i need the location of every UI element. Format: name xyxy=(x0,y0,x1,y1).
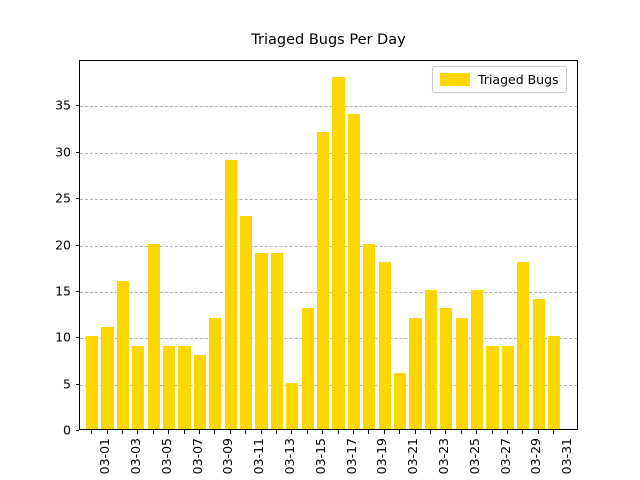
bar xyxy=(117,281,129,429)
x-tick-mark xyxy=(538,430,539,434)
bar xyxy=(209,318,221,429)
x-tick-mark xyxy=(492,430,493,434)
y-tick-label: 30 xyxy=(55,144,71,159)
bar xyxy=(286,383,298,429)
y-tick-mark xyxy=(76,291,80,292)
x-tick-label: 03-09 xyxy=(220,438,235,474)
y-tick-mark xyxy=(76,245,80,246)
x-tick-label: 03-31 xyxy=(559,438,574,474)
x-tick-label: 03-19 xyxy=(374,438,389,474)
x-tick-label: 03-05 xyxy=(159,438,174,474)
bar xyxy=(348,114,360,429)
x-tick-mark xyxy=(107,430,108,434)
y-tick-mark xyxy=(76,105,80,106)
y-tick-mark xyxy=(76,198,80,199)
x-tick-mark xyxy=(338,430,339,434)
bar xyxy=(148,244,160,429)
x-tick-mark xyxy=(415,430,416,434)
bar xyxy=(363,244,375,429)
x-tick-mark xyxy=(276,430,277,434)
x-tick-label: 03-11 xyxy=(251,438,266,474)
bar xyxy=(225,160,237,429)
y-tick-label: 5 xyxy=(63,376,71,391)
bar xyxy=(317,132,329,429)
x-tick-mark xyxy=(353,430,354,434)
y-tick-label: 0 xyxy=(63,423,71,438)
x-tick-mark xyxy=(507,430,508,434)
x-tick-mark xyxy=(184,430,185,434)
x-tick-label: 03-27 xyxy=(498,438,513,474)
x-tick-mark xyxy=(430,430,431,434)
bar xyxy=(409,318,421,429)
bar xyxy=(332,77,344,429)
x-tick-mark xyxy=(199,430,200,434)
x-tick-mark xyxy=(384,430,385,434)
x-tick-mark xyxy=(522,430,523,434)
bar xyxy=(132,346,144,429)
legend-swatch-triaged-bugs xyxy=(440,73,470,86)
y-tick-label: 25 xyxy=(55,191,71,206)
bar xyxy=(394,373,406,429)
bar xyxy=(517,262,529,429)
x-tick-mark xyxy=(399,430,400,434)
x-tick-mark xyxy=(291,430,292,434)
y-tick-mark xyxy=(76,384,80,385)
x-tick-mark xyxy=(214,430,215,434)
bar xyxy=(425,290,437,429)
x-tick-mark xyxy=(230,430,231,434)
bar xyxy=(548,336,560,429)
y-tick-label: 10 xyxy=(55,330,71,345)
x-tick-label: 03-21 xyxy=(405,438,420,474)
x-tick-mark xyxy=(245,430,246,434)
bar xyxy=(379,262,391,429)
x-tick-mark xyxy=(307,430,308,434)
x-tick-label: 03-01 xyxy=(97,438,112,474)
x-tick-mark xyxy=(553,430,554,434)
x-tick-mark xyxy=(476,430,477,434)
bar xyxy=(271,253,283,429)
x-tick-label: 03-13 xyxy=(282,438,297,474)
x-tick-label: 03-17 xyxy=(344,438,359,474)
y-tick-label: 35 xyxy=(55,98,71,113)
y-tick-mark xyxy=(76,152,80,153)
legend-label-triaged-bugs: Triaged Bugs xyxy=(478,72,559,87)
y-tick-mark xyxy=(76,430,80,431)
y-tick-label: 20 xyxy=(55,237,71,252)
chart-legend: Triaged Bugs xyxy=(432,66,567,93)
x-tick-mark xyxy=(445,430,446,434)
bar xyxy=(255,253,267,429)
bar xyxy=(440,308,452,429)
x-tick-label: 03-07 xyxy=(190,438,205,474)
plot-area xyxy=(79,60,578,430)
x-tick-mark xyxy=(122,430,123,434)
y-tick-label: 15 xyxy=(55,283,71,298)
x-tick-mark xyxy=(261,430,262,434)
bar xyxy=(533,299,545,429)
x-tick-label: 03-15 xyxy=(313,438,328,474)
bar xyxy=(101,327,113,429)
x-tick-label: 03-29 xyxy=(528,438,543,474)
bar xyxy=(86,336,98,429)
x-tick-mark xyxy=(461,430,462,434)
bar xyxy=(302,308,314,429)
x-tick-mark xyxy=(368,430,369,434)
bar xyxy=(502,346,514,429)
bar xyxy=(486,346,498,429)
x-tick-label: 03-03 xyxy=(128,438,143,474)
bar xyxy=(178,346,190,429)
x-tick-mark xyxy=(322,430,323,434)
x-tick-label: 03-23 xyxy=(436,438,451,474)
bar xyxy=(471,290,483,429)
chart-title: Triaged Bugs Per Day xyxy=(79,32,578,48)
y-axis-tick-labels: 05101520253035 xyxy=(35,60,71,430)
x-tick-mark xyxy=(91,430,92,434)
bar xyxy=(240,216,252,429)
bar xyxy=(456,318,468,429)
gridline xyxy=(80,106,577,107)
x-tick-mark xyxy=(153,430,154,434)
bar xyxy=(194,355,206,429)
x-tick-label: 03-25 xyxy=(467,438,482,474)
x-tick-mark xyxy=(137,430,138,434)
figure-canvas: Triaged Bugs Per Day 05101520253035 03-0… xyxy=(0,0,640,480)
y-tick-mark xyxy=(76,337,80,338)
bar xyxy=(163,346,175,429)
x-tick-mark xyxy=(168,430,169,434)
